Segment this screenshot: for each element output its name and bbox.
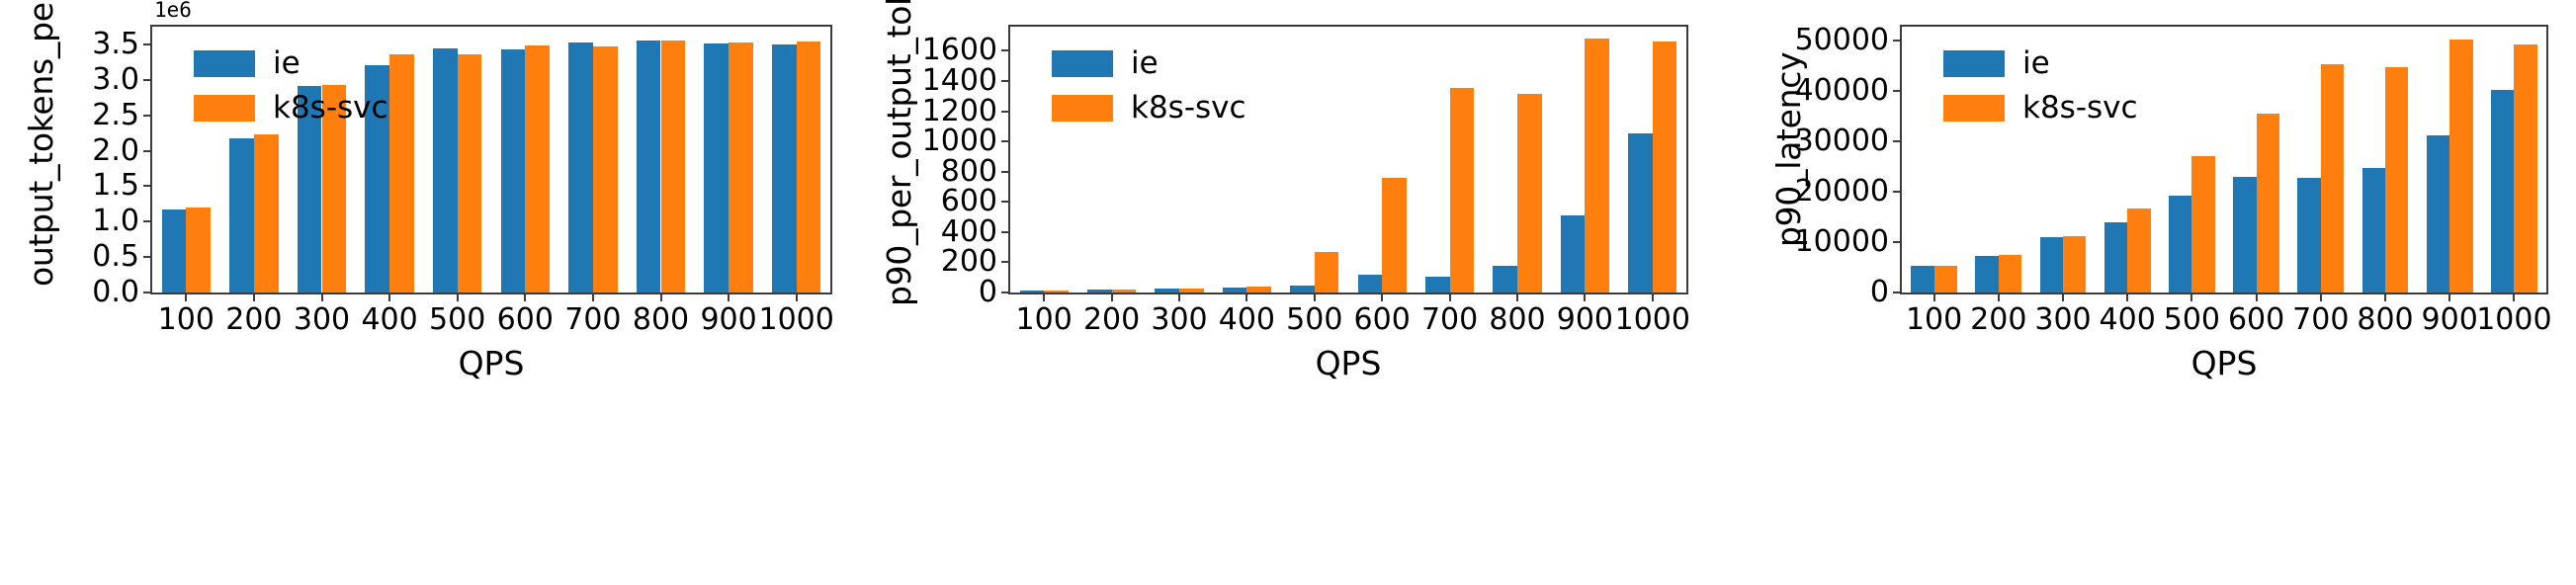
x-tick-mark xyxy=(2190,292,2192,301)
x-tick-mark xyxy=(1178,292,1180,301)
plot-area: 1e60.00.51.01.52.02.53.03.51002003004005… xyxy=(150,25,832,294)
bar-ie-300 xyxy=(2040,237,2063,292)
x-tick-mark xyxy=(253,292,255,301)
legend-label: ie xyxy=(2022,48,2050,79)
x-tick-mark xyxy=(2384,292,2386,301)
y-tick-label: 400 xyxy=(941,217,1010,247)
legend-swatch-ie xyxy=(1943,50,2005,77)
x-tick-label: 300 xyxy=(2034,305,2091,335)
y-tick-label: 50000 xyxy=(1795,26,1902,55)
x-tick-mark xyxy=(1449,292,1451,301)
legend-swatch-ie xyxy=(194,50,255,77)
bar-ie-500 xyxy=(433,48,458,292)
bar-k8s-svc-800 xyxy=(661,41,686,292)
x-tick-mark xyxy=(1933,292,1935,301)
x-tick-mark xyxy=(1516,292,1518,301)
bar-k8s-svc-900 xyxy=(2449,40,2472,292)
legend-label: ie xyxy=(1131,48,1159,79)
bar-k8s-svc-100 xyxy=(1934,266,1957,292)
bar-k8s-svc-1000 xyxy=(1653,42,1677,292)
chart-panel-0: output_tokens_per_min1e60.00.51.01.52.02… xyxy=(0,0,860,585)
x-tick-label: 700 xyxy=(564,305,621,335)
bar-ie-1000 xyxy=(1628,133,1653,292)
x-tick-label: 600 xyxy=(1354,305,1411,335)
bar-k8s-svc-800 xyxy=(1517,94,1542,292)
x-tick-label: 700 xyxy=(2292,305,2349,335)
x-tick-mark xyxy=(1043,292,1045,301)
legend-item-k8s-svc[interactable]: k8s-svc xyxy=(194,93,388,124)
bar-ie-300 xyxy=(1155,289,1179,292)
bar-k8s-svc-1000 xyxy=(2514,44,2536,292)
bar-ie-200 xyxy=(229,138,254,292)
x-tick-mark xyxy=(1381,292,1383,301)
legend-item-k8s-svc[interactable]: k8s-svc xyxy=(1943,93,2138,124)
x-tick-mark xyxy=(660,292,662,301)
x-tick-label: 500 xyxy=(2164,305,2220,335)
bar-ie-800 xyxy=(2362,168,2385,292)
y-tick-label: 1400 xyxy=(922,66,1010,96)
bar-k8s-svc-200 xyxy=(1112,290,1137,292)
bar-k8s-svc-100 xyxy=(186,208,211,292)
y-tick-label: 0.0 xyxy=(92,278,152,307)
x-tick-mark xyxy=(524,292,526,301)
bar-k8s-svc-900 xyxy=(1585,39,1609,292)
bar-ie-1000 xyxy=(772,44,797,292)
bar-k8s-svc-100 xyxy=(1044,291,1069,292)
legend-item-ie[interactable]: ie xyxy=(1052,48,1246,79)
figure-canvas: output_tokens_per_min1e60.00.51.01.52.02… xyxy=(0,0,2576,585)
bar-k8s-svc-300 xyxy=(2063,236,2086,292)
bar-ie-900 xyxy=(2427,135,2449,292)
legend-label: k8s-svc xyxy=(2022,93,2138,124)
x-tick-mark xyxy=(1584,292,1586,301)
bar-k8s-svc-700 xyxy=(2321,64,2344,292)
chart-legend: iek8s-svc xyxy=(1052,48,1246,124)
bar-k8s-svc-900 xyxy=(729,42,753,292)
legend-item-ie[interactable]: ie xyxy=(1943,48,2138,79)
bar-k8s-svc-500 xyxy=(2191,156,2214,292)
x-tick-label: 1000 xyxy=(759,305,834,335)
bar-k8s-svc-200 xyxy=(254,134,279,292)
y-tick-label: 0.5 xyxy=(92,242,152,272)
x-tick-mark xyxy=(388,292,390,301)
y-tick-label: 0 xyxy=(979,278,1010,307)
bar-ie-700 xyxy=(2297,178,2320,292)
bar-k8s-svc-800 xyxy=(2385,67,2408,292)
x-tick-label: 700 xyxy=(1421,305,1478,335)
bar-ie-100 xyxy=(1020,291,1045,292)
x-tick-mark xyxy=(2320,292,2322,301)
bar-k8s-svc-200 xyxy=(1999,255,2021,292)
y-tick-label: 3.0 xyxy=(92,65,152,95)
y-axis-label: output_tokens_per_min xyxy=(22,0,61,287)
x-tick-mark xyxy=(457,292,459,301)
y-axis-offset-text: 1e6 xyxy=(154,0,192,22)
bar-ie-500 xyxy=(2169,196,2191,292)
bar-k8s-svc-400 xyxy=(389,54,414,292)
legend-label: k8s-svc xyxy=(1131,93,1246,124)
x-tick-label: 100 xyxy=(1906,305,1962,335)
x-tick-mark xyxy=(728,292,730,301)
x-tick-label: 800 xyxy=(633,305,689,335)
y-tick-label: 200 xyxy=(941,247,1010,277)
legend-item-ie[interactable]: ie xyxy=(194,48,388,79)
x-tick-mark xyxy=(1998,292,2000,301)
bar-ie-200 xyxy=(1087,290,1112,292)
x-tick-label: 900 xyxy=(1557,305,1613,335)
plot-area: 0100002000030000400005000010020030040050… xyxy=(1900,25,2548,294)
bar-k8s-svc-700 xyxy=(593,46,618,292)
y-axis-label: p90_per_output_token_latency xyxy=(880,0,919,306)
x-axis-label: QPS xyxy=(1010,347,1686,379)
x-tick-label: 900 xyxy=(2422,305,2478,335)
x-tick-mark xyxy=(1652,292,1654,301)
chart-panel-1: p90_per_output_token_latency020040060080… xyxy=(860,0,1720,585)
y-tick-label: 1200 xyxy=(922,97,1010,126)
bar-ie-1000 xyxy=(2491,90,2514,292)
bar-ie-800 xyxy=(1493,266,1517,292)
y-tick-label: 1.5 xyxy=(92,171,152,201)
y-tick-label: 10000 xyxy=(1795,227,1902,257)
x-tick-label: 200 xyxy=(1970,305,2026,335)
bar-ie-700 xyxy=(568,42,593,292)
x-tick-mark xyxy=(321,292,323,301)
x-tick-label: 800 xyxy=(1489,305,1545,335)
legend-swatch-k8s-svc xyxy=(1052,95,1113,122)
x-tick-label: 400 xyxy=(1219,305,1275,335)
bar-k8s-svc-500 xyxy=(458,54,482,292)
bar-ie-600 xyxy=(501,49,526,292)
x-tick-mark xyxy=(1245,292,1247,301)
chart-legend: iek8s-svc xyxy=(194,48,388,124)
x-tick-label: 1000 xyxy=(1615,305,1690,335)
legend-item-k8s-svc[interactable]: k8s-svc xyxy=(1052,93,1246,124)
bar-ie-100 xyxy=(1911,266,1933,292)
y-tick-label: 3.5 xyxy=(92,30,152,59)
y-tick-label: 20000 xyxy=(1795,177,1902,207)
y-tick-label: 30000 xyxy=(1795,126,1902,156)
y-tick-label: 800 xyxy=(941,157,1010,187)
bar-ie-600 xyxy=(1358,275,1383,292)
x-tick-mark xyxy=(592,292,594,301)
legend-swatch-k8s-svc xyxy=(1943,95,2005,122)
bar-k8s-svc-500 xyxy=(1315,252,1339,292)
x-tick-label: 1000 xyxy=(2476,305,2551,335)
x-tick-label: 300 xyxy=(1151,305,1207,335)
bar-ie-900 xyxy=(1561,215,1586,292)
chart-panel-2: p90_latency01000020000300004000050000100… xyxy=(1720,0,2576,585)
legend-swatch-k8s-svc xyxy=(194,95,255,122)
bar-ie-600 xyxy=(2233,177,2256,292)
x-tick-mark xyxy=(1111,292,1113,301)
x-tick-mark xyxy=(2062,292,2064,301)
x-tick-label: 500 xyxy=(1286,305,1342,335)
y-tick-label: 2.5 xyxy=(92,101,152,130)
x-tick-label: 400 xyxy=(361,305,417,335)
x-tick-label: 600 xyxy=(497,305,554,335)
plot-area: 0200400600800100012001400160010020030040… xyxy=(1008,25,1688,294)
bar-ie-200 xyxy=(1975,256,1998,292)
x-tick-label: 900 xyxy=(700,305,756,335)
legend-label: ie xyxy=(273,48,301,79)
x-tick-label: 500 xyxy=(429,305,485,335)
x-tick-label: 100 xyxy=(158,305,215,335)
bar-ie-800 xyxy=(637,41,661,292)
x-tick-mark xyxy=(796,292,798,301)
x-tick-label: 300 xyxy=(294,305,350,335)
y-tick-label: 600 xyxy=(941,187,1010,216)
bar-ie-400 xyxy=(1223,288,1247,292)
legend-swatch-ie xyxy=(1052,50,1113,77)
bar-ie-100 xyxy=(162,209,187,292)
x-tick-mark xyxy=(185,292,187,301)
x-axis-label: QPS xyxy=(152,347,830,379)
x-tick-label: 200 xyxy=(225,305,282,335)
x-tick-label: 400 xyxy=(2100,305,2156,335)
x-axis-label: QPS xyxy=(1902,347,2546,379)
bar-k8s-svc-400 xyxy=(1246,287,1271,292)
bar-k8s-svc-1000 xyxy=(797,42,821,292)
x-tick-mark xyxy=(2126,292,2128,301)
y-tick-label: 1600 xyxy=(922,36,1010,65)
x-tick-mark xyxy=(2513,292,2515,301)
y-tick-label: 1.0 xyxy=(92,207,152,236)
y-tick-label: 40000 xyxy=(1795,76,1902,106)
x-tick-mark xyxy=(2448,292,2450,301)
chart-legend: iek8s-svc xyxy=(1943,48,2138,124)
bar-ie-900 xyxy=(704,43,729,292)
x-tick-mark xyxy=(1314,292,1316,301)
bar-k8s-svc-600 xyxy=(2257,114,2279,292)
x-tick-label: 100 xyxy=(1016,305,1073,335)
bar-k8s-svc-700 xyxy=(1450,88,1475,292)
bar-ie-400 xyxy=(2104,222,2127,292)
bar-k8s-svc-600 xyxy=(525,45,550,292)
bar-ie-700 xyxy=(1425,277,1450,292)
x-tick-label: 800 xyxy=(2357,305,2413,335)
bar-k8s-svc-600 xyxy=(1382,178,1407,292)
x-tick-label: 600 xyxy=(2228,305,2284,335)
y-tick-label: 2.0 xyxy=(92,136,152,166)
x-tick-label: 200 xyxy=(1083,305,1140,335)
y-tick-label: 0 xyxy=(1870,278,1902,307)
bar-k8s-svc-400 xyxy=(2127,209,2150,292)
legend-label: k8s-svc xyxy=(273,93,388,124)
x-tick-mark xyxy=(2256,292,2258,301)
bar-ie-500 xyxy=(1290,286,1315,292)
y-tick-label: 1000 xyxy=(922,126,1010,156)
bar-k8s-svc-300 xyxy=(1179,289,1204,292)
